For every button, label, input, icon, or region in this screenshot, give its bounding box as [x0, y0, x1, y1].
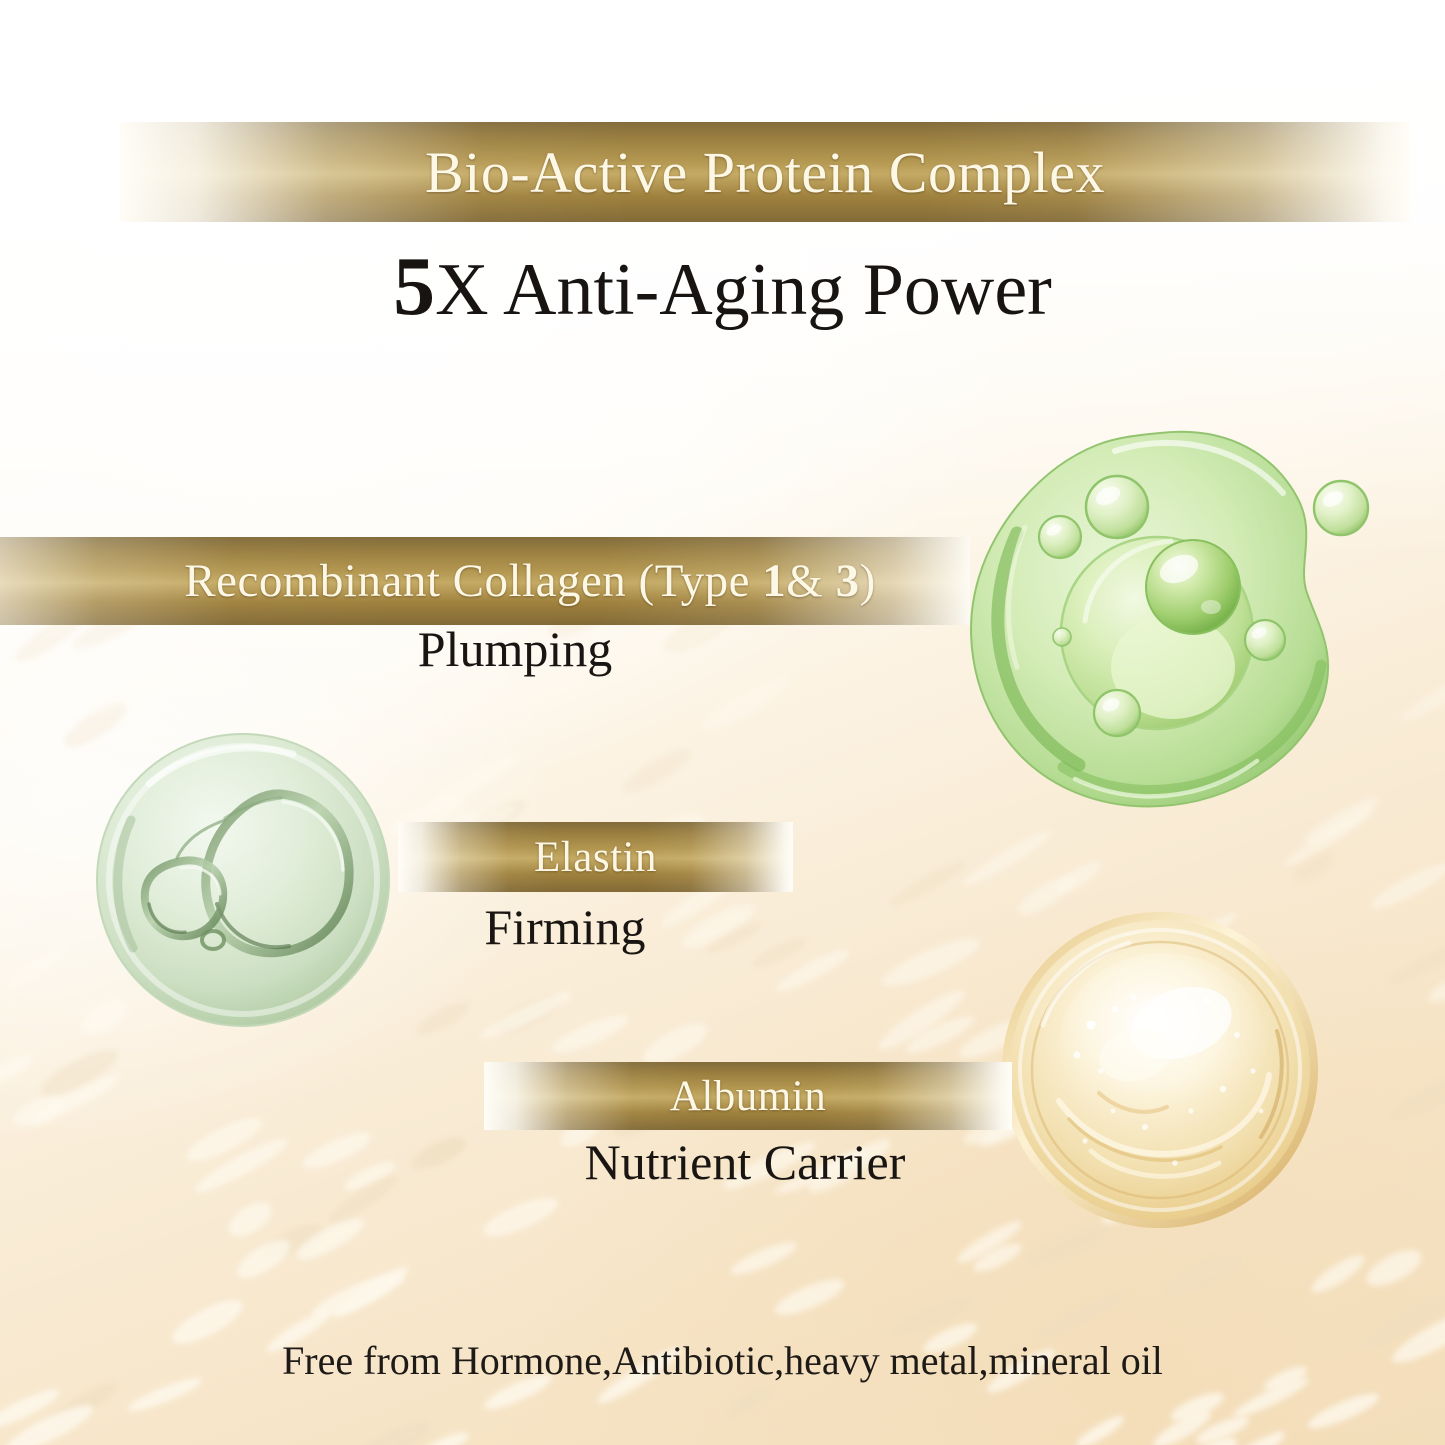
- product-infographic-poster: Bio-Active Protein Complex 5X Anti-Aging…: [0, 0, 1445, 1445]
- collagen-type-1: 1: [762, 555, 786, 607]
- ingredient-banner-elastin: Elastin: [398, 822, 793, 892]
- caption-plumping: Plumping: [300, 620, 730, 678]
- banner-albumin-text: Albumin: [670, 1072, 826, 1121]
- green-blob-droplet: [945, 415, 1375, 815]
- sage-sphere-droplet: [85, 728, 405, 1033]
- banner-elastin-text: Elastin: [534, 833, 657, 882]
- headline-multiplier: 5: [393, 240, 435, 333]
- ingredient-banner-albumin: Albumin: [484, 1062, 1012, 1130]
- banner-collagen-text: Recombinant Collagen (Type 1& 3): [94, 554, 875, 608]
- title-banner: Bio-Active Protein Complex: [120, 122, 1410, 222]
- banner-title-text: Bio-Active Protein Complex: [425, 139, 1105, 206]
- caption-nutrient-carrier: Nutrient Carrier: [430, 1133, 1060, 1191]
- collagen-label-amp: &: [786, 555, 835, 607]
- caption-firming: Firming: [350, 898, 780, 956]
- headline-rest: X Anti-Aging Power: [435, 249, 1052, 331]
- ingredient-banner-collagen: Recombinant Collagen (Type 1& 3): [0, 537, 970, 625]
- collagen-label-suffix: ): [860, 555, 876, 607]
- headline-anti-aging: 5X Anti-Aging Power: [0, 238, 1445, 335]
- collagen-label-prefix: Recombinant Collagen (Type: [184, 555, 762, 607]
- collagen-type-3: 3: [836, 555, 860, 607]
- free-from-note: Free from Hormone,Antibiotic,heavy metal…: [0, 1337, 1445, 1384]
